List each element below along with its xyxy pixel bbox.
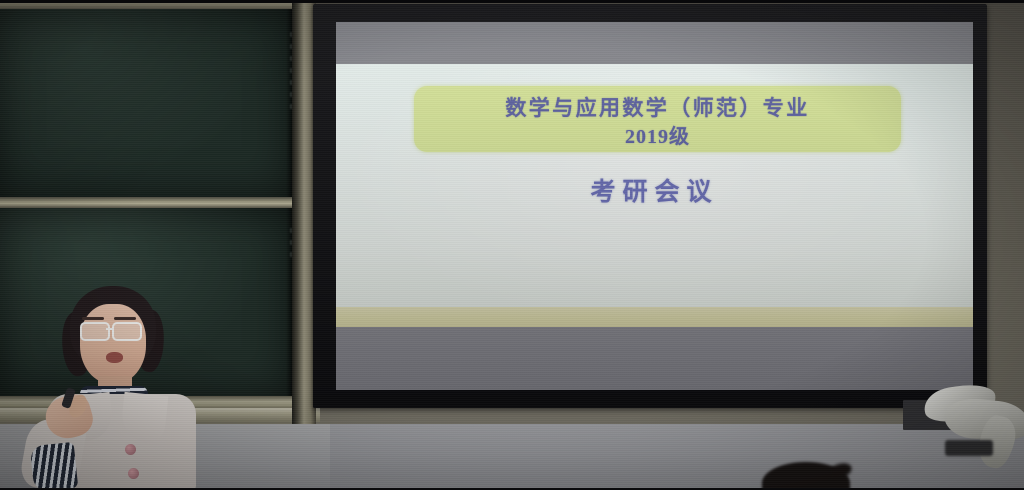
presenter-eyebrow-right <box>114 317 136 320</box>
classroom-scene: 数学与应用数学（师范）专业 2019级 考研会议 <box>0 0 1024 490</box>
presenter-eyebrow-left <box>82 317 104 320</box>
presenter-jacket-button-upper <box>125 444 136 455</box>
chalkboard-panel-upper <box>0 8 292 198</box>
presenter-jacket-button-lower <box>128 468 139 479</box>
frame-edge-top <box>0 0 1024 3</box>
eyeglasses-lens-right <box>112 322 142 341</box>
slide-title-highlight-box: 数学与应用数学（师范）专业 2019级 <box>414 86 901 152</box>
presenter-mouth <box>106 352 123 363</box>
eyeglasses-bridge <box>106 328 112 330</box>
presentation-slide: 数学与应用数学（师范）专业 2019级 考研会议 <box>336 64 973 327</box>
eyeglasses-lens-left <box>80 322 110 341</box>
presenter <box>18 286 208 490</box>
slide-title-line-1: 数学与应用数学（师范）专业 <box>414 92 901 122</box>
presenter-face <box>80 304 146 384</box>
chalkboard-rail-middle <box>0 197 312 208</box>
projection-screen-bezel: 数学与应用数学（师范）专业 2019级 考研会议 <box>313 4 987 408</box>
chalkboard-sheen-upper <box>0 8 292 198</box>
presenter-striped-sleeve <box>30 442 79 490</box>
projection-screen-surface: 数学与应用数学（师范）专业 2019级 考研会议 <box>336 22 973 390</box>
letterbox-band-bottom <box>336 327 973 390</box>
slide-title-line-2: 2019级 <box>414 120 901 149</box>
foreground-dark-object <box>945 440 993 456</box>
slide-subtitle: 考研会议 <box>336 172 973 208</box>
letterbox-band-top <box>336 22 973 64</box>
slide-footer-band <box>336 307 973 327</box>
